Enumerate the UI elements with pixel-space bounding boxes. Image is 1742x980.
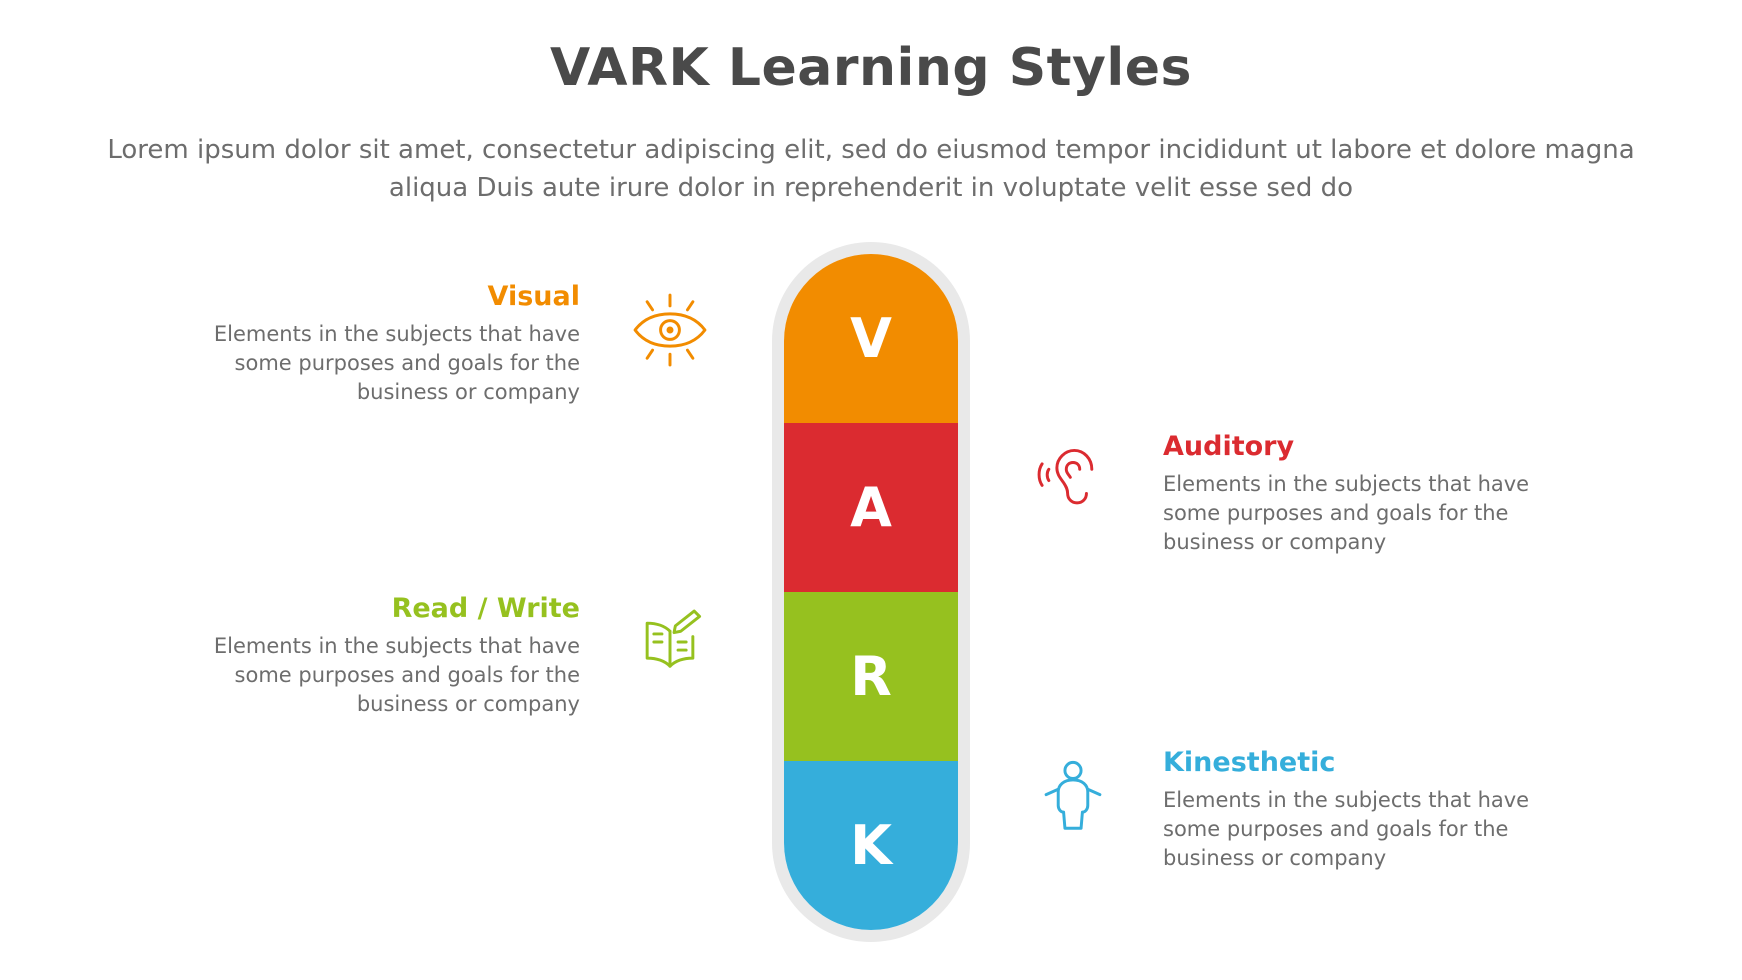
capsule-letter-v: V [850, 312, 892, 366]
item-visual-title: Visual [210, 282, 580, 312]
item-read-write[interactable]: Read / Write Elements in the subjects th… [210, 594, 718, 719]
capsule-segment-auditory[interactable]: A [784, 423, 958, 592]
open-book-pencil-icon [622, 594, 718, 690]
item-auditory-title: Auditory [1163, 432, 1533, 462]
person-body-icon [1025, 748, 1121, 844]
item-read-write-title: Read / Write [210, 594, 580, 624]
item-kinesthetic-description: Elements in the subjects that have some … [1163, 786, 1533, 873]
ear-icon [1025, 432, 1121, 528]
item-kinesthetic-title: Kinesthetic [1163, 748, 1533, 778]
item-visual[interactable]: Visual Elements in the subjects that hav… [210, 282, 718, 407]
capsule-segment-visual[interactable]: V [784, 254, 958, 423]
capsule-segment-read-write[interactable]: R [784, 592, 958, 761]
capsule-segment-kinesthetic[interactable]: K [784, 761, 958, 930]
page-subtitle: Lorem ipsum dolor sit amet, consectetur … [71, 132, 1671, 207]
capsule-letter-a: A [850, 481, 892, 535]
capsule-letter-k: K [850, 819, 892, 873]
item-visual-description: Elements in the subjects that have some … [210, 320, 580, 407]
infographic-canvas: VARK Learning Styles Lorem ipsum dolor s… [0, 0, 1742, 980]
vark-capsule: V A R K [772, 242, 970, 942]
eye-icon [622, 282, 718, 378]
capsule-letter-r: R [850, 650, 892, 704]
page-title: VARK Learning Styles [0, 38, 1742, 98]
item-kinesthetic[interactable]: Kinesthetic Elements in the subjects tha… [1025, 748, 1533, 873]
item-auditory-description: Elements in the subjects that have some … [1163, 470, 1533, 557]
item-auditory[interactable]: Auditory Elements in the subjects that h… [1025, 432, 1533, 557]
item-read-write-description: Elements in the subjects that have some … [210, 632, 580, 719]
